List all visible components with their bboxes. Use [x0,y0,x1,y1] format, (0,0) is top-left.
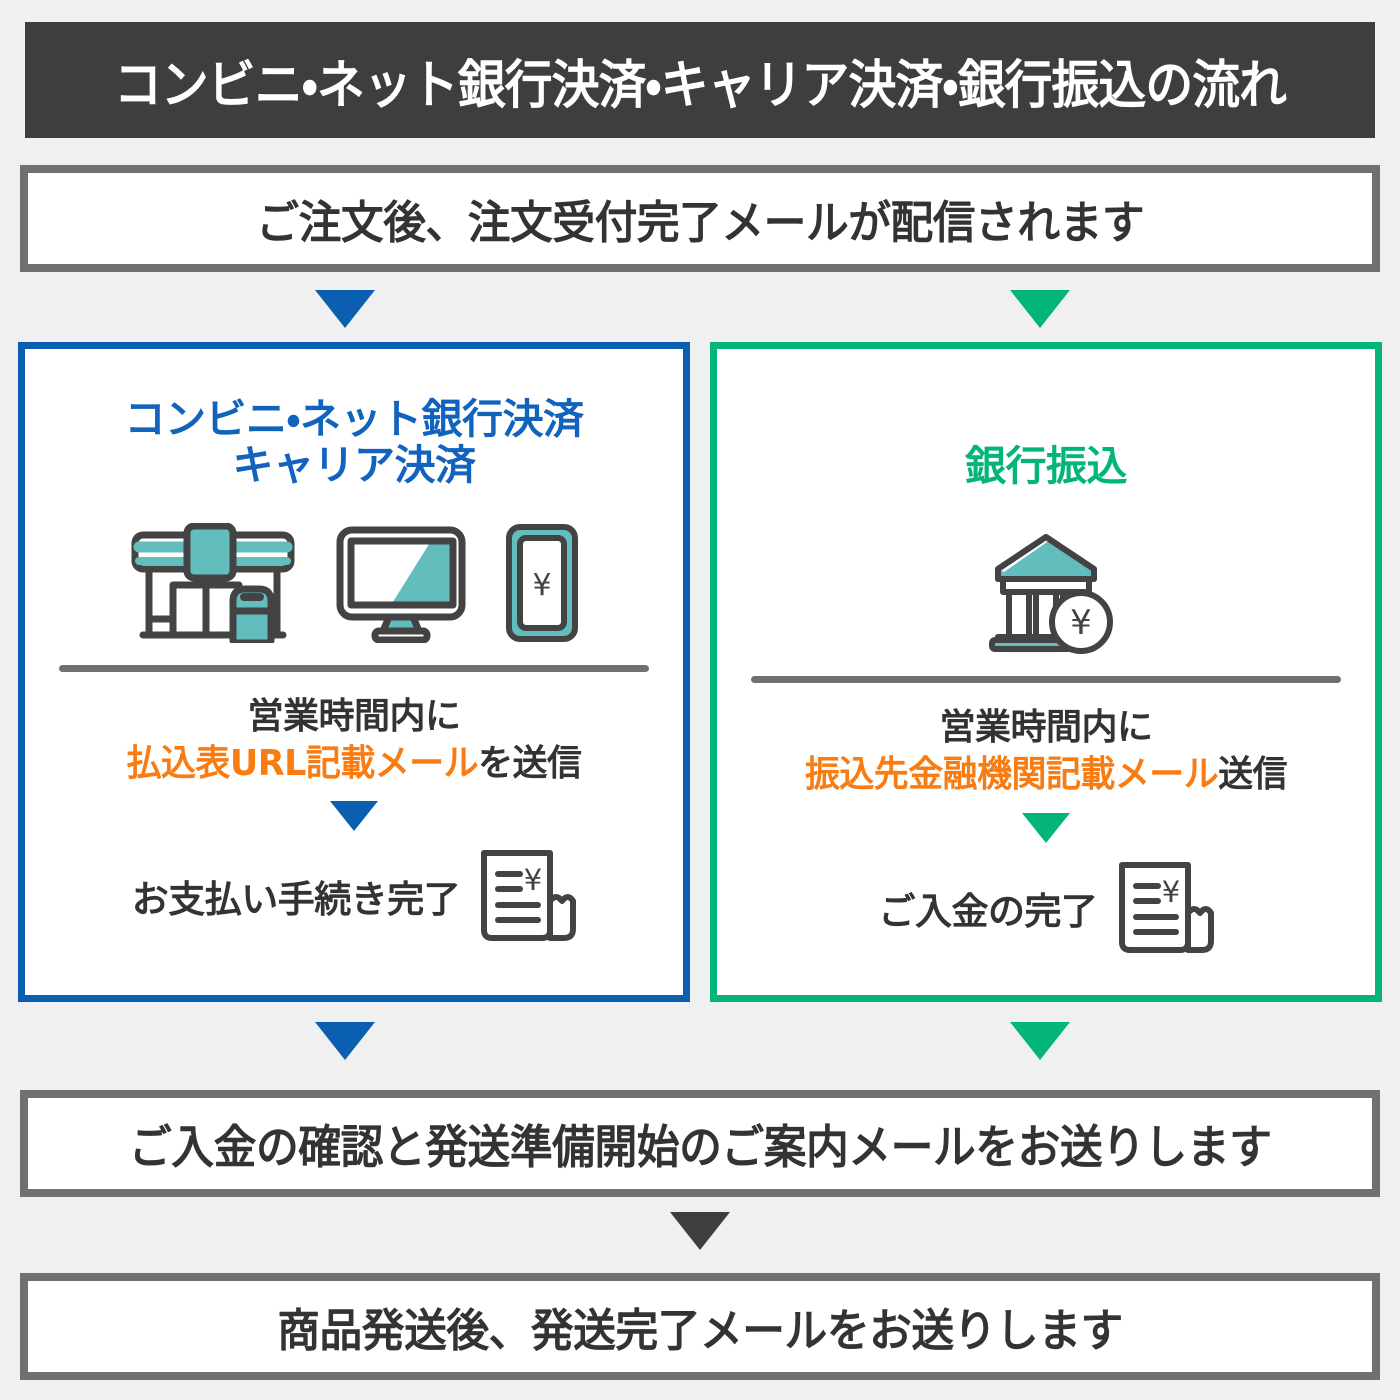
svg-text:¥: ¥ [1070,603,1092,643]
svg-text:¥: ¥ [532,568,551,603]
step-payment-confirmed: ご入金の確認と発送準備開始のご案内メールをお送りします [20,1090,1380,1197]
step-order-received-label: ご注文後、注文受付完了メールが配信されます [256,186,1144,251]
diagram-title: コンビニ・ネット銀行決済・キャリア決済・銀行振込の流れ [114,43,1286,118]
convenience-mail-note: 営業時間内に 払込表URL記載メールを送信 [25,694,683,788]
convenience-store-icon [129,523,297,643]
bank-result-label: ご入金の完了 [879,881,1098,935]
arrow-down-conveni-step-icon [330,801,378,831]
convenience-result-label: お支払い手続き完了 [132,869,461,923]
invoice-yen-icon: ¥ [472,847,576,945]
bank-note-line1: 営業時間内に [939,707,1152,748]
convenience-note-line2: 払込表URL記載メールを送信 [35,741,673,788]
bank-inner-arrow-wrap [717,813,1375,843]
bank-icon-row: ¥ [717,524,1375,654]
bank-note-suffix: 送信 [1218,754,1287,795]
arrow-down-from-bank-icon [1010,1022,1070,1060]
convenience-divider [59,665,649,672]
bank-divider [751,676,1341,683]
bank-note-line2: 振込先金融機関記載メール送信 [727,752,1365,799]
arrow-down-to-bank-icon [1010,290,1070,328]
diagram-title-bar: コンビニ・ネット銀行決済・キャリア決済・銀行振込の流れ [25,22,1375,138]
arrow-down-to-shipped-icon [670,1212,730,1250]
convenience-icon-row: ¥ [25,513,683,643]
bank-mail-note: 営業時間内に 振込先金融機関記載メール送信 [717,705,1375,799]
arrow-down-from-conveni-icon [315,1022,375,1060]
panel-bank-title: 銀行振込 [717,444,1375,490]
convenience-note-line1: 営業時間内に [247,696,460,737]
arrow-down-bank-step-icon [1022,813,1070,843]
step-shipped-label: 商品発送後、発送完了メールをお送りします [277,1294,1123,1359]
smartphone-yen-icon: ¥ [505,523,579,643]
step-shipped: 商品発送後、発送完了メールをお送りします [20,1273,1380,1380]
invoice-yen-icon: ¥ [1110,859,1214,957]
bank-result-row: ご入金の完了 ¥ [717,859,1375,957]
svg-text:¥: ¥ [524,863,542,897]
bank-building-yen-icon: ¥ [976,532,1116,654]
arrow-down-to-conveni-icon [315,290,375,328]
convenience-note-suffix: を送信 [478,743,581,784]
panel-convenience-title: コンビニ・ネット銀行決済 キャリア決済 [25,397,683,489]
bank-note-highlight: 振込先金融機関記載メール [805,754,1218,795]
panel-convenience-payment: コンビニ・ネット銀行決済 キャリア決済 [18,342,690,1002]
panel-bank-transfer: 銀行振込 [710,342,1382,1002]
convenience-inner-arrow-wrap [25,801,683,831]
convenience-note-highlight: 払込表URL記載メール [127,743,479,784]
svg-text:¥: ¥ [1161,875,1179,909]
payment-flow-diagram: コンビニ・ネット銀行決済・キャリア決済・銀行振込の流れ ご注文後、注文受付完了メ… [0,0,1400,1400]
step-order-received: ご注文後、注文受付完了メールが配信されます [20,165,1380,272]
step-payment-confirmed-label: ご入金の確認と発送準備開始のご案内メールをお送りします [129,1111,1272,1177]
convenience-result-row: お支払い手続き完了 ¥ [25,847,683,945]
desktop-monitor-icon [335,525,467,643]
